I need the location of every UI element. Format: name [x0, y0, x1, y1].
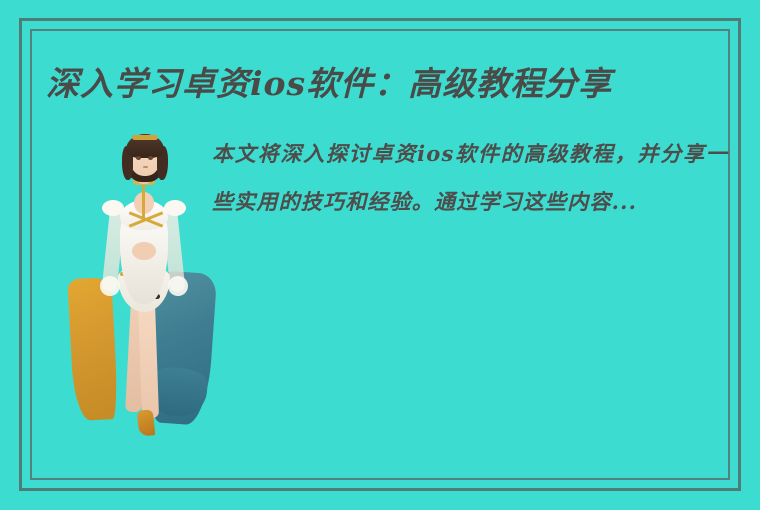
gold-cloth [67, 277, 118, 421]
shoulder-frill-right [164, 200, 186, 216]
article-excerpt: 本文将深入探讨卓资ios软件的高级教程，并分享一些实用的技巧和经验。通过学习这些… [212, 130, 728, 226]
character-illustration [58, 126, 228, 426]
gold-headpiece [132, 135, 158, 140]
shoulder-frill-left [102, 200, 124, 216]
mouth [143, 166, 148, 168]
eye-right [148, 156, 153, 160]
sleeve-cuff-right [168, 276, 188, 296]
sleeve-cuff-left [100, 276, 120, 296]
eye-left [136, 156, 141, 160]
page-title: 深入学习卓资ios软件：高级教程分享 [46, 62, 718, 112]
poster-canvas: 深入学习卓资ios软件：高级教程分享 [0, 0, 760, 510]
waist-cutout [132, 242, 156, 260]
strap-vertical [142, 184, 145, 218]
content-area: 本文将深入探讨卓资ios软件的高级教程，并分享一些实用的技巧和经验。通过学习这些… [40, 124, 728, 454]
high-heel-shoe [137, 409, 156, 437]
